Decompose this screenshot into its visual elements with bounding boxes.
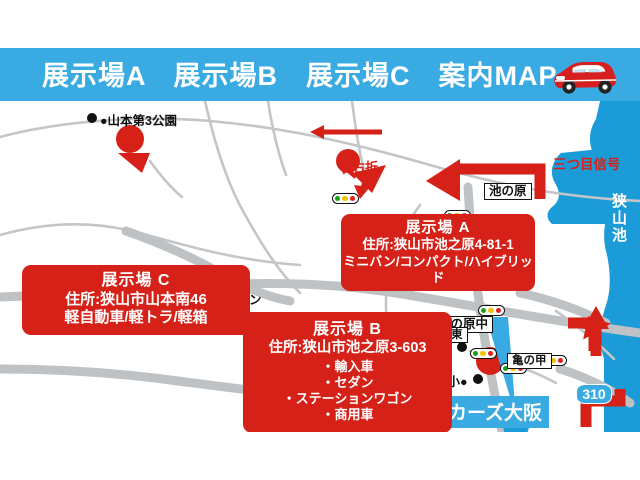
- dot-yamamoto-park: [87, 113, 97, 123]
- dot-nishi-elementary: [473, 374, 483, 384]
- traffic-light-iwamurohigashi: [470, 348, 497, 359]
- map-page: 展示場A 展示場B 展示場C 案内MAP: [0, 0, 640, 480]
- traffic-light-ikenoharachu-2: [478, 305, 505, 316]
- callout-showroom-a[interactable]: 展示場 A 住所:狭山市池之原4-81-1 ミニバン/コンパクト/ハイブリッド: [341, 214, 535, 291]
- page-title: 展示場A 展示場B 展示場C 案内MAP: [42, 58, 542, 94]
- callout-b-item-0: ・輸入車: [243, 359, 452, 375]
- callout-a-inventory: ミニバン/コンパクト/ハイブリッド: [341, 254, 535, 286]
- traffic-light-ushe: [332, 193, 359, 204]
- callout-c-name: 展示場 C: [22, 271, 250, 291]
- intersection-label-kamenoko: 亀の甲: [507, 353, 552, 369]
- lake-label: 狭山池: [608, 193, 629, 244]
- callout-b-item-1: ・セダン: [243, 375, 452, 391]
- dealer-label-cars-osaka[interactable]: カーズ大阪: [441, 396, 549, 428]
- callout-a-name: 展示場 A: [341, 219, 535, 237]
- tail-c: [118, 153, 150, 173]
- callout-b-name: 展示場 B: [243, 320, 452, 340]
- top-white-band: [0, 0, 640, 48]
- callout-b-item-2: ・ステーションワゴン: [243, 391, 452, 407]
- callout-b-address: 住所:狭山市池之原3-603: [243, 340, 452, 358]
- map-area[interactable]: 34 310 池の原 池の原中 岩室東 亀の甲 晴美台 1丁東 ●山本第3公園 …: [0, 101, 640, 432]
- third-signal-label: 三つ目信号: [553, 153, 621, 173]
- poi-label-yamamoto-park: ●山本第3公園: [100, 110, 177, 129]
- callout-b-item-3: ・商用車: [243, 407, 452, 423]
- red-car-icon: [548, 57, 620, 95]
- dot-post-office: [457, 342, 467, 352]
- callout-showroom-c[interactable]: 展示場 C 住所:狭山市山本南46 軽自動車/軽トラ/軽箱: [22, 265, 250, 335]
- marker-c: [116, 125, 144, 153]
- callout-c-inventory: 軽自動車/軽トラ/軽箱: [22, 309, 250, 327]
- route-shield-310: 310: [576, 384, 612, 404]
- intersection-label-ikenohara: 池の原: [484, 183, 532, 200]
- turn-right-label: 右折: [352, 157, 378, 176]
- callout-c-address: 住所:狭山市山本南46: [22, 291, 250, 309]
- callout-a-address: 住所:狭山市池之原4-81-1: [341, 237, 535, 253]
- callout-showroom-b[interactable]: 展示場 B 住所:狭山市池之原3-603 ・輸入車 ・セダン ・ステーションワゴ…: [243, 312, 452, 432]
